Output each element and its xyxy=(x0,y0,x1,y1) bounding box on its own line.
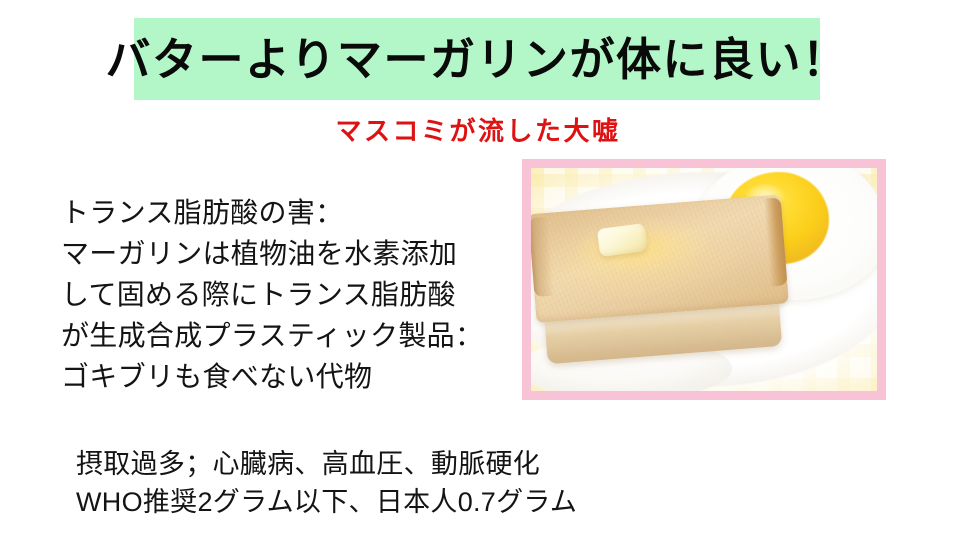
title-banner: バターよりマーガリンが体に良い！ xyxy=(134,18,820,100)
body-line: ゴキブリも食べない代物 xyxy=(61,356,531,397)
footer-line: WHO推奨2グラム以下、日本人0.7グラム xyxy=(76,483,716,521)
photo-frame xyxy=(522,159,886,400)
body-line: マーガリンは植物油を水素添加 xyxy=(61,233,531,274)
footer-line: 摂取過多；心臓病、高血圧、動脈硬化 xyxy=(76,445,716,483)
subtitle: マスコミが流した大嘘 xyxy=(0,116,958,147)
page-title: バターよりマーガリンが体に良い！ xyxy=(105,37,848,82)
footer-text-block: 摂取過多；心臓病、高血圧、動脈硬化 WHO推奨2グラム以下、日本人0.7グラム xyxy=(76,445,716,521)
toast-slice xyxy=(531,194,796,374)
toast-and-egg-photo xyxy=(531,168,877,391)
body-line: トランス脂肪酸の害： xyxy=(61,192,531,233)
toast-top-surface xyxy=(531,194,790,323)
body-line: が生成合成プラスティック製品： xyxy=(61,315,531,356)
slide-canvas: バターよりマーガリンが体に良い！ マスコミが流した大嘘 トランス脂肪酸の害： マ… xyxy=(0,0,960,540)
body-text-block: トランス脂肪酸の害： マーガリンは植物油を水素添加 して固める際にトランス脂肪酸… xyxy=(61,192,531,397)
body-line: して固める際にトランス脂肪酸 xyxy=(61,274,531,315)
